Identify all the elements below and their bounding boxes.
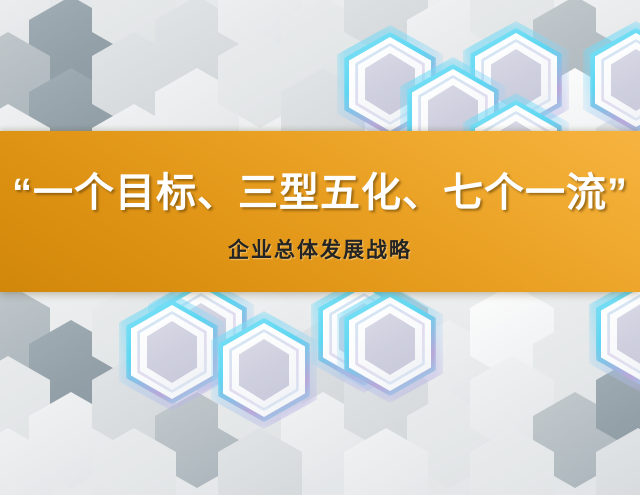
title-banner: “一个目标、三型五化、七个一流” 企业总体发展战略 (0, 131, 640, 292)
page-title: “一个目标、三型五化、七个一流” (12, 160, 628, 218)
glowing-hexagon-accent (218, 318, 310, 422)
slide-canvas: “一个目标、三型五化、七个一流” 企业总体发展战略 (0, 0, 640, 495)
glowing-hexagon-accent (126, 300, 218, 404)
glowing-hexagon-accent (596, 282, 640, 386)
glowing-hexagon-accent (590, 28, 640, 132)
page-subtitle: 企业总体发展战略 (228, 234, 412, 264)
glowing-hexagon-accent (344, 292, 436, 396)
